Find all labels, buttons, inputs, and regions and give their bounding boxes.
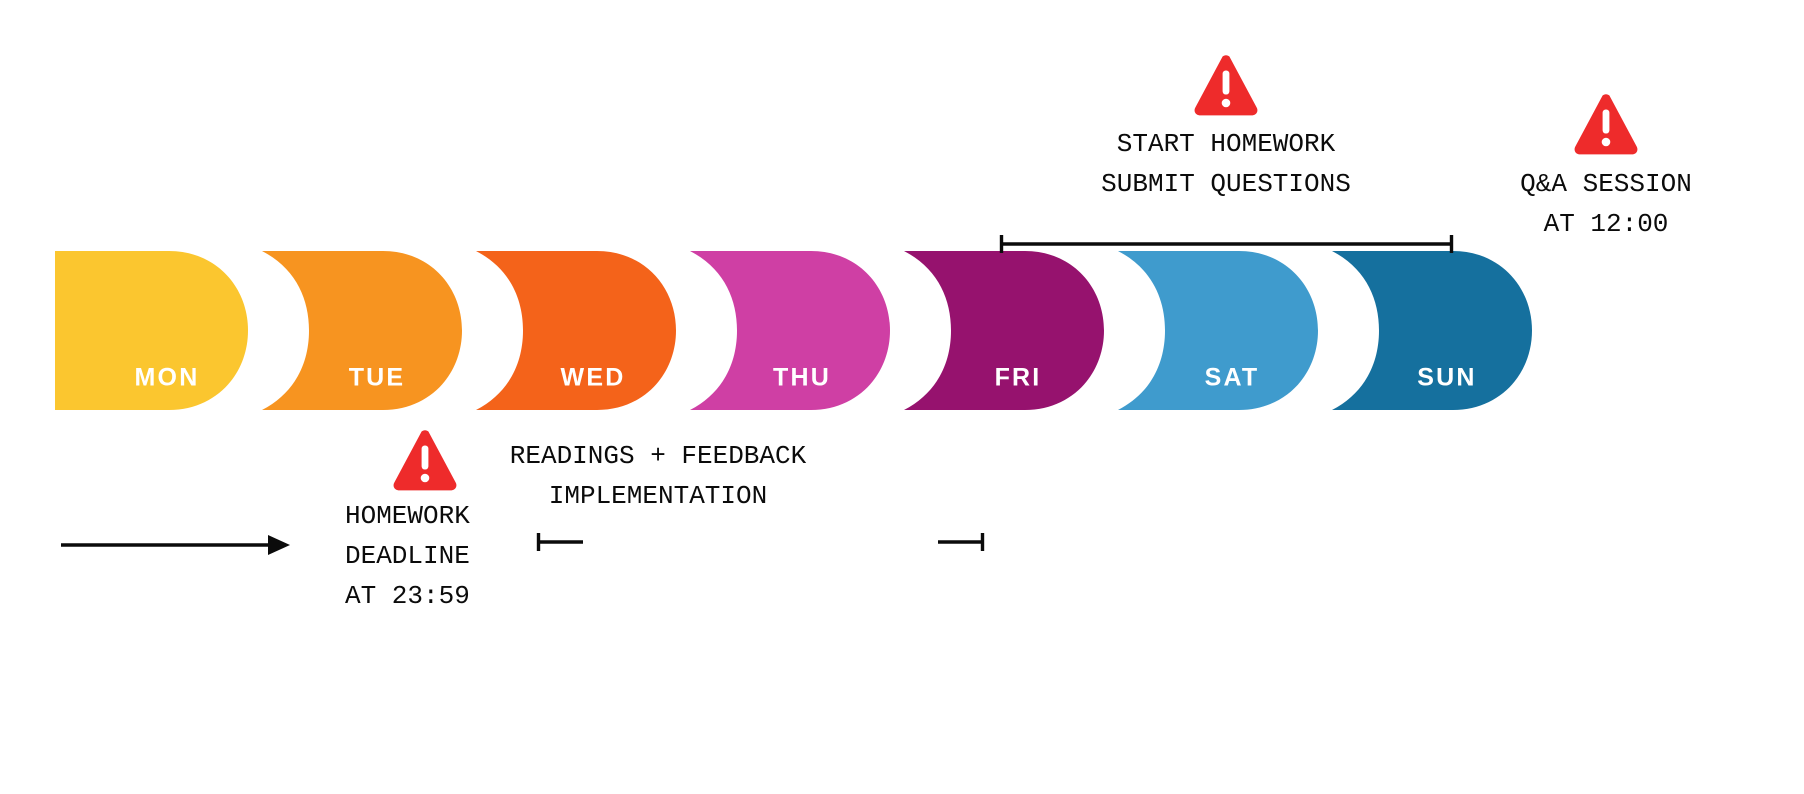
- right-arrow-icon: [61, 535, 290, 555]
- annotation-homework-deadline: HOMEWORK DEADLINE AT 23:59: [345, 496, 470, 616]
- day-bar-thu[interactable]: [690, 251, 890, 410]
- annotation-line: SUBMIT QUESTIONS: [1101, 164, 1351, 204]
- day-bar-sat[interactable]: [1118, 251, 1318, 410]
- annotation-vectors: [0, 0, 1804, 794]
- warning-icon: [394, 430, 457, 490]
- day-bar-fri[interactable]: [904, 251, 1104, 410]
- annotation-readings-feedback: READINGS + FEEDBACK IMPLEMENTATION: [510, 436, 806, 516]
- warning-icon: [1575, 94, 1638, 154]
- span-bracket-bottom: [537, 533, 984, 551]
- day-bar-tue[interactable]: [262, 251, 462, 410]
- annotation-line: READINGS + FEEDBACK: [510, 436, 806, 476]
- warning-icon: [1195, 55, 1258, 115]
- annotation-line: IMPLEMENTATION: [510, 476, 806, 516]
- annotation-qa-session: Q&A SESSION AT 12:00: [1520, 164, 1692, 244]
- annotation-start-homework: START HOMEWORK SUBMIT QUESTIONS: [1101, 124, 1351, 204]
- annotation-line: HOMEWORK: [345, 496, 470, 536]
- annotation-line: START HOMEWORK: [1101, 124, 1351, 164]
- day-bar-sun[interactable]: [1332, 251, 1532, 410]
- annotation-line: AT 23:59: [345, 576, 470, 616]
- day-bar-wed[interactable]: [476, 251, 676, 410]
- annotation-line: Q&A SESSION: [1520, 164, 1692, 204]
- timeline-diagram: MON TUE WED THU FRI SAT SUN: [0, 0, 1804, 794]
- annotation-line: AT 12:00: [1520, 204, 1692, 244]
- annotation-line: DEADLINE: [345, 536, 470, 576]
- day-bars-group: [0, 0, 1804, 794]
- day-bar-mon[interactable]: [55, 251, 248, 410]
- span-bracket-top: [1000, 235, 1453, 253]
